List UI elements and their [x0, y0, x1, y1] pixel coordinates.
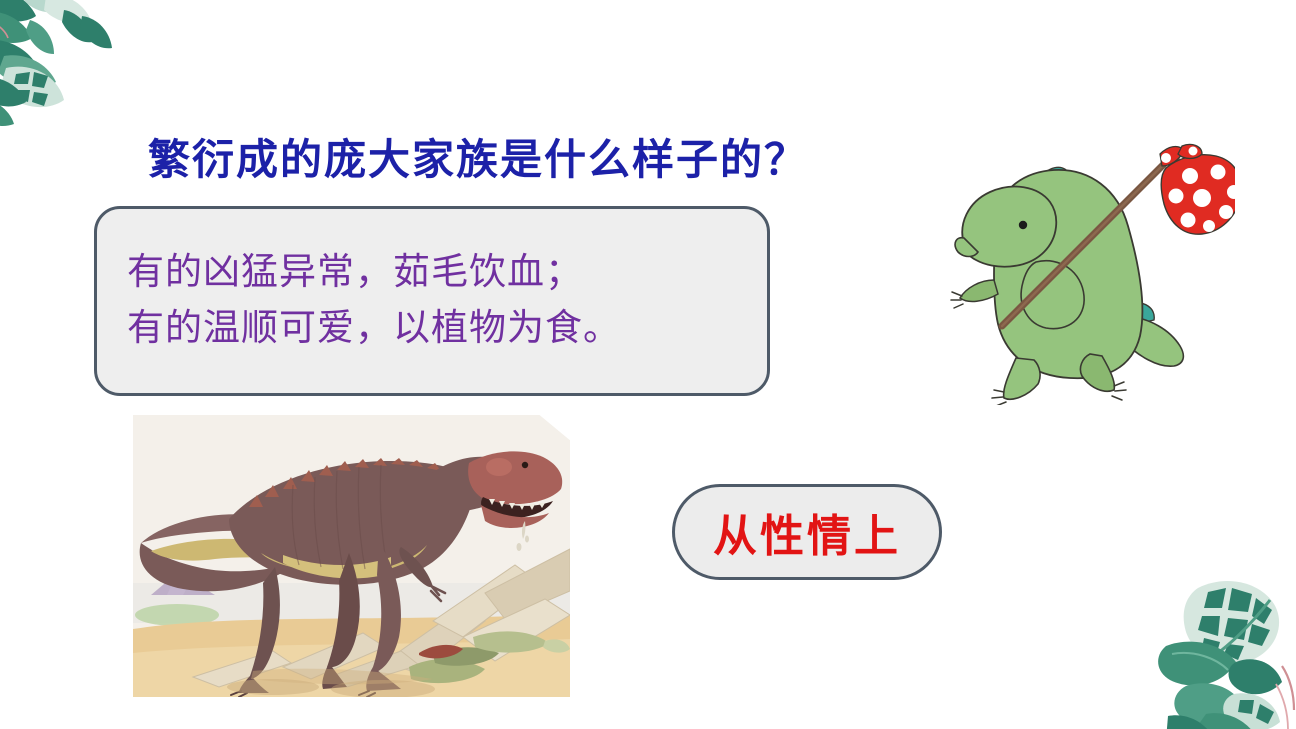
bindle-stick-icon	[1002, 156, 1172, 326]
cartoon-dinosaur-with-bindle-icon	[950, 140, 1235, 405]
carnivorous-dinosaur-illustration-icon	[133, 415, 570, 697]
bindle-sack-icon	[1161, 155, 1235, 234]
slide-canvas: 繁衍成的庞大家族是什么样子的？ 有的凶猛异常，茹毛饮血； 有的温顺可爱，以植物为…	[0, 0, 1296, 729]
tropical-leaf-icon	[0, 0, 136, 132]
label-pill-text: 从性情上	[713, 500, 901, 564]
dinosaur-photo	[133, 415, 570, 697]
slide-title: 繁衍成的庞大家族是什么样子的？	[148, 137, 808, 185]
tropical-leaf-icon	[1152, 574, 1296, 729]
leaf-decoration-top-left	[0, 0, 136, 132]
label-pill: 从性情上	[672, 484, 942, 580]
leaf-decoration-bottom-right	[1152, 574, 1296, 729]
statement-box: 有的凶猛异常，茹毛饮血； 有的温顺可爱，以植物为食。	[94, 206, 770, 396]
mascot-eye-icon	[1019, 221, 1027, 229]
statement-line-1: 有的凶猛异常，茹毛饮血；	[127, 245, 737, 301]
statement-line-2: 有的温顺可爱，以植物为食。	[127, 301, 737, 357]
mascot-dinosaur	[950, 140, 1235, 405]
